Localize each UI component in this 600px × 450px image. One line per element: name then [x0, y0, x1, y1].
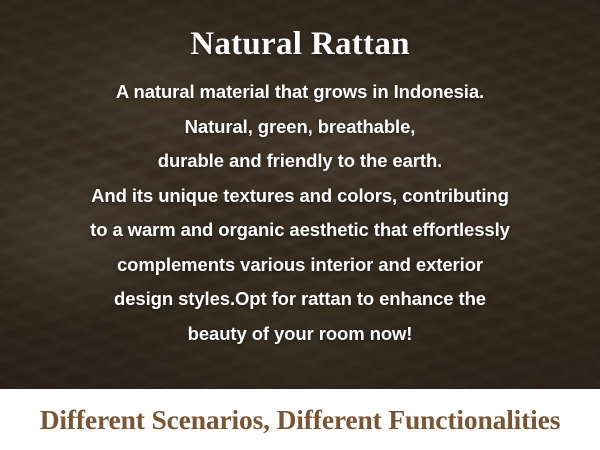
description-line: design styles.Opt for rattan to enhance …	[0, 282, 600, 317]
footer-heading: Different Scenarios, Different Functiona…	[40, 404, 561, 436]
description-line: complements various interior and exterio…	[0, 248, 600, 283]
description-line: durable and friendly to the earth.	[0, 144, 600, 179]
description-line: beauty of your room now!	[0, 317, 600, 352]
footer-band: Different Scenarios, Different Functiona…	[0, 389, 600, 450]
promo-banner: Natural Rattan A natural material that g…	[0, 0, 600, 450]
description-paragraph: A natural material that grows in Indones…	[0, 64, 600, 351]
description-line: to a warm and organic aesthetic that eff…	[0, 213, 600, 248]
description-line: A natural material that grows in Indones…	[0, 75, 600, 110]
description-line: Natural, green, breathable,	[0, 110, 600, 145]
hero-content: Natural Rattan A natural material that g…	[0, 0, 600, 389]
page-title: Natural Rattan	[0, 0, 600, 64]
description-line: And its unique textures and colors, cont…	[0, 179, 600, 214]
